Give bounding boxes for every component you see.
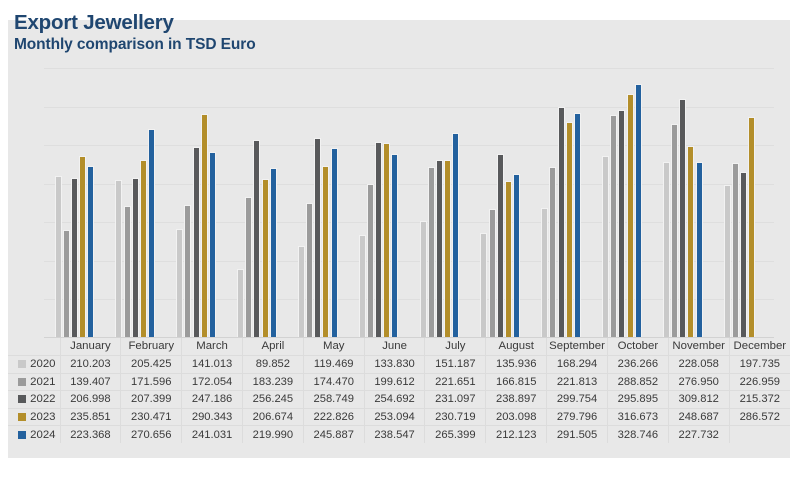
legend-label: 2024 bbox=[30, 429, 55, 441]
table-header-month: October bbox=[607, 338, 668, 356]
table-cell-value: 221.651 bbox=[425, 373, 486, 391]
table-cell-value: 174.470 bbox=[303, 373, 364, 391]
chart-screenshot: Export Jewellery Monthly comparison in T… bbox=[0, 0, 800, 484]
bar bbox=[63, 230, 70, 338]
table-row: 2024223.368270.656241.031219.990245.8872… bbox=[8, 426, 790, 444]
page-subtitle: Monthly comparison in TSD Euro bbox=[14, 37, 256, 53]
bar bbox=[696, 162, 703, 338]
bar bbox=[391, 154, 398, 338]
bar bbox=[489, 209, 496, 338]
table-corner-cell bbox=[8, 338, 60, 356]
bar bbox=[55, 176, 62, 338]
table-cell-value: 248.687 bbox=[668, 408, 729, 426]
bar bbox=[627, 94, 634, 338]
bar bbox=[184, 205, 191, 338]
bar bbox=[176, 229, 183, 338]
table-cell-value: 223.368 bbox=[60, 426, 121, 444]
bar bbox=[322, 166, 329, 338]
table-header-row: JanuaryFebruaryMarchAprilMayJuneJulyAugu… bbox=[8, 338, 790, 356]
table-header-month: January bbox=[60, 338, 121, 356]
table-header-month: April bbox=[242, 338, 303, 356]
table-cell-value: 221.813 bbox=[547, 373, 608, 391]
legend-entry: 2020 bbox=[8, 356, 60, 374]
table-cell-value: 171.596 bbox=[121, 373, 182, 391]
table-cell-value: 139.407 bbox=[60, 373, 121, 391]
table-cell-value: 141.013 bbox=[182, 356, 243, 374]
bar bbox=[732, 163, 739, 338]
table-cell-value: 236.266 bbox=[607, 356, 668, 374]
table-cell-value: 270.656 bbox=[121, 426, 182, 444]
table-cell-value: 235.851 bbox=[60, 408, 121, 426]
table-header-month: February bbox=[121, 338, 182, 356]
bar bbox=[566, 122, 573, 338]
bar bbox=[193, 147, 200, 338]
table-header-month: December bbox=[729, 338, 790, 356]
data-table-wrap: JanuaryFebruaryMarchAprilMayJuneJulyAugu… bbox=[8, 338, 790, 454]
bar bbox=[428, 167, 435, 338]
table-cell-value: 241.031 bbox=[182, 426, 243, 444]
legend-swatch-icon bbox=[18, 431, 26, 439]
legend-swatch-icon bbox=[18, 413, 26, 421]
table-cell-value: 197.735 bbox=[729, 356, 790, 374]
table-cell-value: 203.098 bbox=[486, 408, 547, 426]
table-cell-value: 291.505 bbox=[547, 426, 608, 444]
table-cell-value: 279.796 bbox=[547, 408, 608, 426]
table-cell-value: 309.812 bbox=[668, 391, 729, 409]
table-cell-value: 238.897 bbox=[486, 391, 547, 409]
bar bbox=[558, 107, 565, 338]
bar bbox=[541, 208, 548, 338]
bar bbox=[237, 269, 244, 338]
table-cell-value: 89.852 bbox=[242, 356, 303, 374]
bar bbox=[314, 138, 321, 338]
bar-group bbox=[470, 68, 531, 338]
bar bbox=[148, 129, 155, 338]
bar bbox=[87, 166, 94, 338]
table-header-month: June bbox=[364, 338, 425, 356]
table-cell-value bbox=[729, 426, 790, 444]
table-cell-value: 205.425 bbox=[121, 356, 182, 374]
bar bbox=[549, 167, 556, 338]
table-cell-value: 254.692 bbox=[364, 391, 425, 409]
legend-entry: 2021 bbox=[8, 373, 60, 391]
table-cell-value: 215.372 bbox=[729, 391, 790, 409]
table-cell-value: 133.830 bbox=[364, 356, 425, 374]
bar-group bbox=[105, 68, 166, 338]
bar bbox=[505, 181, 512, 338]
bar bbox=[436, 160, 443, 338]
bar bbox=[610, 115, 617, 338]
bar-group bbox=[713, 68, 774, 338]
table-cell-value: 288.852 bbox=[607, 373, 668, 391]
table-cell-value: 328.746 bbox=[607, 426, 668, 444]
bar bbox=[420, 221, 427, 338]
bar bbox=[602, 156, 609, 338]
bar-group bbox=[348, 68, 409, 338]
table-cell-value: 207.399 bbox=[121, 391, 182, 409]
table-cell-value: 230.719 bbox=[425, 408, 486, 426]
bar bbox=[359, 235, 366, 338]
table-header-month: March bbox=[182, 338, 243, 356]
table-cell-value: 238.547 bbox=[364, 426, 425, 444]
bar bbox=[375, 142, 382, 338]
table-cell-value: 253.094 bbox=[364, 408, 425, 426]
bar bbox=[245, 197, 252, 338]
bar bbox=[383, 143, 390, 338]
table-cell-value: 151.187 bbox=[425, 356, 486, 374]
legend-swatch-icon bbox=[18, 395, 26, 403]
legend-label: 2023 bbox=[30, 411, 55, 423]
legend-label: 2022 bbox=[30, 393, 55, 405]
bar bbox=[201, 114, 208, 338]
table-cell-value: 166.815 bbox=[486, 373, 547, 391]
bar-group bbox=[227, 68, 288, 338]
table-cell-value: 245.887 bbox=[303, 426, 364, 444]
legend-swatch-icon bbox=[18, 360, 26, 368]
plot-area bbox=[44, 68, 774, 338]
table-cell-value: 290.343 bbox=[182, 408, 243, 426]
bar bbox=[724, 185, 731, 338]
table-cell-value: 230.471 bbox=[121, 408, 182, 426]
bar bbox=[140, 160, 147, 338]
bar bbox=[115, 180, 122, 338]
table-cell-value: 228.058 bbox=[668, 356, 729, 374]
table-header-month: November bbox=[668, 338, 729, 356]
table-cell-value: 199.612 bbox=[364, 373, 425, 391]
bar bbox=[618, 110, 625, 338]
table-row: 2021139.407171.596172.054183.239174.4701… bbox=[8, 373, 790, 391]
bar bbox=[306, 203, 313, 338]
bar-group bbox=[409, 68, 470, 338]
table-cell-value: 295.895 bbox=[607, 391, 668, 409]
bar bbox=[452, 133, 459, 338]
table-cell-value: 206.998 bbox=[60, 391, 121, 409]
bar bbox=[740, 172, 747, 338]
table-cell-value: 299.754 bbox=[547, 391, 608, 409]
bar bbox=[262, 179, 269, 338]
legend-entry: 2022 bbox=[8, 391, 60, 409]
bar bbox=[513, 174, 520, 338]
table-cell-value: 172.054 bbox=[182, 373, 243, 391]
bar bbox=[635, 84, 642, 338]
bar bbox=[270, 168, 277, 338]
table-cell-value: 231.097 bbox=[425, 391, 486, 409]
bar bbox=[679, 99, 686, 338]
bar bbox=[444, 160, 451, 338]
table-cell-value: 247.186 bbox=[182, 391, 243, 409]
bar bbox=[497, 154, 504, 338]
bar-group bbox=[287, 68, 348, 338]
table-cell-value: 210.203 bbox=[60, 356, 121, 374]
table-cell-value: 265.399 bbox=[425, 426, 486, 444]
table-cell-value: 256.245 bbox=[242, 391, 303, 409]
table-cell-value: 135.936 bbox=[486, 356, 547, 374]
bar-group bbox=[652, 68, 713, 338]
table-cell-value: 276.950 bbox=[668, 373, 729, 391]
page-title: Export Jewellery bbox=[14, 12, 256, 34]
legend-entry: 2023 bbox=[8, 408, 60, 426]
bar bbox=[132, 178, 139, 338]
bar bbox=[124, 206, 131, 338]
table-cell-value: 286.572 bbox=[729, 408, 790, 426]
title-block: Export Jewellery Monthly comparison in T… bbox=[14, 12, 256, 53]
legend-label: 2021 bbox=[30, 376, 55, 388]
bar bbox=[71, 178, 78, 338]
table-row: 2023235.851230.471290.343206.674222.8262… bbox=[8, 408, 790, 426]
bar bbox=[367, 184, 374, 338]
table-row: 2022206.998207.399247.186256.245258.7492… bbox=[8, 391, 790, 409]
legend-swatch-icon bbox=[18, 378, 26, 386]
bar bbox=[687, 146, 694, 338]
legend-label: 2020 bbox=[30, 358, 55, 370]
bar bbox=[331, 148, 338, 338]
table-cell-value: 168.294 bbox=[547, 356, 608, 374]
bar bbox=[209, 152, 216, 338]
data-table: JanuaryFebruaryMarchAprilMayJuneJulyAugu… bbox=[8, 338, 790, 443]
bar bbox=[79, 156, 86, 338]
bar bbox=[253, 140, 260, 338]
table-cell-value: 212.123 bbox=[486, 426, 547, 444]
bar bbox=[748, 117, 755, 338]
table-cell-value: 227.732 bbox=[668, 426, 729, 444]
table-header-month: May bbox=[303, 338, 364, 356]
table-cell-value: 206.674 bbox=[242, 408, 303, 426]
table-cell-value: 222.826 bbox=[303, 408, 364, 426]
table-header-month: September bbox=[547, 338, 608, 356]
table-cell-value: 219.990 bbox=[242, 426, 303, 444]
table-row: 2020210.203205.425141.01389.852119.46913… bbox=[8, 356, 790, 374]
table-cell-value: 119.469 bbox=[303, 356, 364, 374]
table-header-month: August bbox=[486, 338, 547, 356]
bar bbox=[574, 113, 581, 338]
bar-group bbox=[166, 68, 227, 338]
bar bbox=[671, 124, 678, 338]
bar-group bbox=[44, 68, 105, 338]
table-cell-value: 226.959 bbox=[729, 373, 790, 391]
table-cell-value: 258.749 bbox=[303, 391, 364, 409]
bar-group bbox=[531, 68, 592, 338]
bar bbox=[298, 246, 305, 338]
bar-group bbox=[592, 68, 653, 338]
bar bbox=[480, 233, 487, 338]
table-cell-value: 183.239 bbox=[242, 373, 303, 391]
legend-entry: 2024 bbox=[8, 426, 60, 444]
bar bbox=[663, 162, 670, 338]
table-header-month: July bbox=[425, 338, 486, 356]
table-cell-value: 316.673 bbox=[607, 408, 668, 426]
